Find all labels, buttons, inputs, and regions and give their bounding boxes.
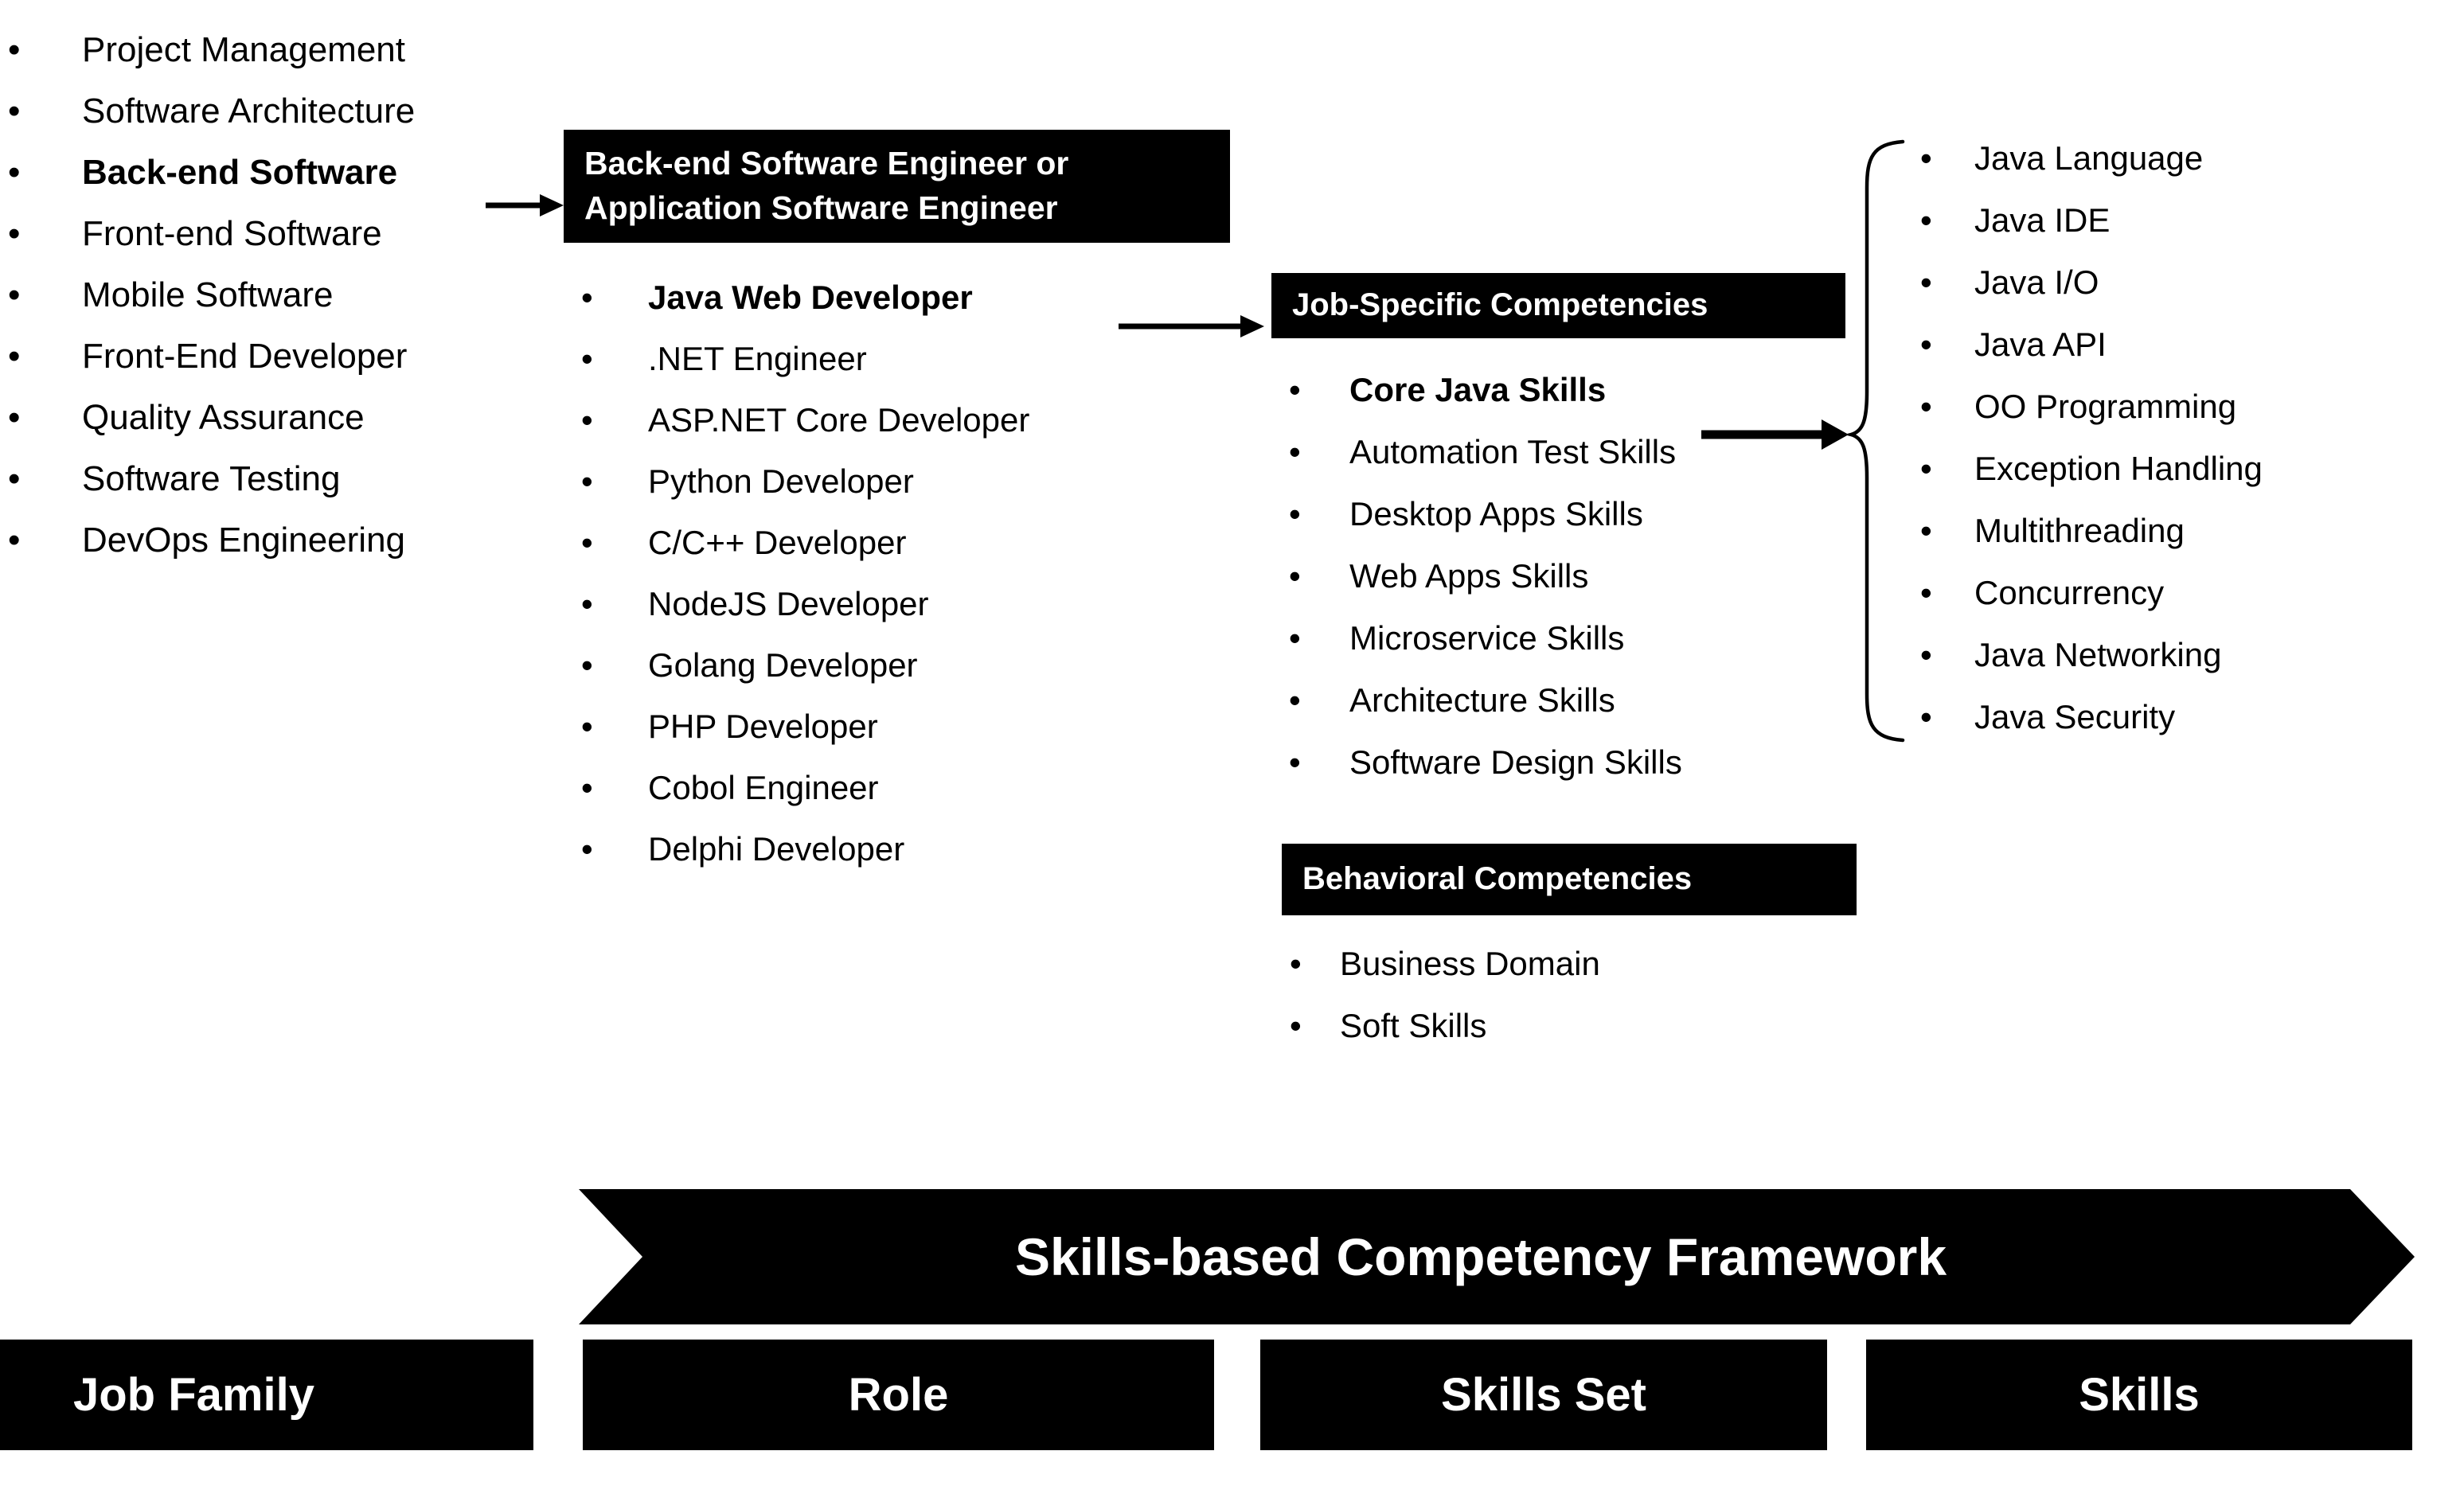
- job-specific-competency-label: Software Design Skills: [1349, 731, 1682, 794]
- job-family-label: Back-end Software: [82, 142, 397, 203]
- bullet-dot-icon: •: [581, 328, 593, 389]
- skills-list: •Java Language•Java IDE•Java I/O•Java AP…: [1911, 127, 2460, 748]
- job-family-label: Project Management: [82, 19, 405, 80]
- role-label: C/C++ Developer: [648, 512, 907, 573]
- role-header-line-1: Back-end Software Engineer or: [584, 141, 1209, 185]
- skill-item: •OO Programming: [1911, 376, 2460, 438]
- skill-label: Java I/O: [1974, 252, 2099, 314]
- footer-label-skills: Skills: [1866, 1340, 2412, 1450]
- behavioral-competency-label: Soft Skills: [1340, 995, 1486, 1057]
- role-label: NodeJS Developer: [648, 573, 929, 634]
- job-specific-competency-label: Automation Test Skills: [1349, 421, 1676, 483]
- role-label: Python Developer: [648, 450, 914, 512]
- job-family-label: Front-end Software: [82, 203, 382, 264]
- role-label: Golang Developer: [648, 634, 918, 696]
- job-specific-competencies-header-box: Job-Specific Competencies: [1271, 273, 1845, 338]
- role-label: Cobol Engineer: [648, 757, 879, 818]
- bullet-dot-icon: •: [8, 509, 20, 571]
- job-family-label: Front-End Developer: [82, 326, 407, 387]
- job-specific-competency-label: Architecture Skills: [1349, 669, 1615, 731]
- job-family-item: •Mobile Software: [0, 264, 557, 326]
- bullet-dot-icon: •: [581, 757, 593, 818]
- bullet-dot-icon: •: [1289, 545, 1301, 607]
- bullet-dot-icon: •: [8, 19, 20, 80]
- role-item: •Golang Developer: [570, 634, 1236, 696]
- banner-title: Skills-based Competency Framework: [579, 1189, 2415, 1324]
- skill-item: •Java Security: [1911, 686, 2460, 748]
- behavioral-competency-item: •Business Domain: [1282, 933, 1919, 995]
- behavioral-competency-item: •Soft Skills: [1282, 995, 1919, 1057]
- role-list: •Java Web Developer•.NET Engineer•ASP.NE…: [564, 267, 1236, 880]
- job-specific-competency-item: •Microservice Skills: [1281, 607, 1908, 669]
- skill-label: Java Security: [1974, 686, 2175, 748]
- job-family-item: •DevOps Engineering: [0, 509, 557, 571]
- behavioral-competency-label: Business Domain: [1340, 933, 1600, 995]
- behavioral-competencies-header-box: Behavioral Competencies: [1282, 844, 1857, 915]
- job-specific-competency-item: •Software Design Skills: [1281, 731, 1908, 794]
- bullet-dot-icon: •: [581, 389, 593, 450]
- role-item: •Delphi Developer: [570, 818, 1236, 880]
- skill-item: •Java API: [1911, 314, 2460, 376]
- role-item: •ASP.NET Core Developer: [570, 389, 1236, 450]
- role-item: •Python Developer: [570, 450, 1236, 512]
- skill-label: OO Programming: [1974, 376, 2236, 438]
- skill-label: Java Networking: [1974, 624, 2221, 686]
- job-family-item: •Software Testing: [0, 448, 557, 509]
- bullet-dot-icon: •: [1290, 933, 1302, 995]
- bullet-dot-icon: •: [581, 634, 593, 696]
- skill-label: Java Language: [1974, 127, 2203, 189]
- job-family-column: •Project Management•Software Architectur…: [0, 19, 557, 571]
- job-family-item: •Front-end Software: [0, 203, 557, 264]
- role-label: ASP.NET Core Developer: [648, 389, 1029, 450]
- skill-item: •Java Language: [1911, 127, 2460, 189]
- role-column: Back-end Software Engineer or Applicatio…: [564, 130, 1236, 880]
- role-header-line-2: Application Software Engineer: [584, 185, 1209, 230]
- role-item: •Java Web Developer: [570, 267, 1236, 328]
- bullet-dot-icon: •: [581, 573, 593, 634]
- bullet-dot-icon: •: [8, 448, 20, 509]
- job-family-item: •Quality Assurance: [0, 387, 557, 448]
- bullet-dot-icon: •: [1289, 421, 1301, 483]
- skill-item: •Concurrency: [1911, 562, 2460, 624]
- job-specific-competency-label: Core Java Skills: [1349, 359, 1606, 421]
- bullet-dot-icon: •: [1289, 731, 1301, 794]
- competency-framework-diagram: •Project Management•Software Architectur…: [0, 0, 2464, 1486]
- bullet-dot-icon: •: [581, 696, 593, 757]
- bullet-dot-icon: •: [1920, 376, 1932, 438]
- bullet-dot-icon: •: [8, 203, 20, 264]
- job-specific-competency-label: Microservice Skills: [1349, 607, 1624, 669]
- job-specific-competencies-list: •Core Java Skills•Automation Test Skills…: [1271, 359, 1908, 794]
- role-label: .NET Engineer: [648, 328, 867, 389]
- footer-label-job-family: Job Family: [0, 1340, 533, 1450]
- footer-label-role: Role: [583, 1340, 1214, 1450]
- bullet-dot-icon: •: [1920, 438, 1932, 500]
- bullet-dot-icon: •: [8, 326, 20, 387]
- skill-item: •Multithreading: [1911, 500, 2460, 562]
- skill-item: •Java IDE: [1911, 189, 2460, 252]
- bullet-dot-icon: •: [1920, 686, 1932, 748]
- role-label: PHP Developer: [648, 696, 878, 757]
- bullet-dot-icon: •: [1920, 189, 1932, 252]
- bullet-dot-icon: •: [581, 450, 593, 512]
- skills-column: •Java Language•Java IDE•Java I/O•Java AP…: [1911, 127, 2460, 748]
- job-specific-competency-item: •Automation Test Skills: [1281, 421, 1908, 483]
- role-item: •PHP Developer: [570, 696, 1236, 757]
- behavioral-competencies-group: Behavioral Competencies •Business Domain…: [1282, 844, 1919, 1057]
- job-specific-competency-label: Desktop Apps Skills: [1349, 483, 1643, 545]
- bullet-dot-icon: •: [1290, 995, 1302, 1057]
- footer-label-skills-set: Skills Set: [1260, 1340, 1827, 1450]
- job-specific-competency-item: •Architecture Skills: [1281, 669, 1908, 731]
- framework-banner: Skills-based Competency Framework: [579, 1189, 2415, 1324]
- bullet-dot-icon: •: [8, 142, 20, 203]
- skill-label: Java API: [1974, 314, 2107, 376]
- bullet-dot-icon: •: [581, 512, 593, 573]
- job-family-item: •Back-end Software: [0, 142, 557, 203]
- role-label: Delphi Developer: [648, 818, 904, 880]
- bullet-dot-icon: •: [1289, 359, 1301, 421]
- behavioral-competencies-list: •Business Domain•Soft Skills: [1282, 933, 1919, 1057]
- bullet-dot-icon: •: [1920, 314, 1932, 376]
- job-family-label: Software Testing: [82, 448, 340, 509]
- skill-label: Concurrency: [1974, 562, 2164, 624]
- job-family-item: •Software Architecture: [0, 80, 557, 142]
- skills-set-column: Job-Specific Competencies •Core Java Ski…: [1271, 273, 1908, 794]
- bullet-dot-icon: •: [1920, 252, 1932, 314]
- skill-label: Exception Handling: [1974, 438, 2263, 500]
- skill-item: •Java I/O: [1911, 252, 2460, 314]
- role-item: •.NET Engineer: [570, 328, 1236, 389]
- job-family-list: •Project Management•Software Architectur…: [0, 19, 557, 571]
- role-item: •NodeJS Developer: [570, 573, 1236, 634]
- bullet-dot-icon: •: [1289, 483, 1301, 545]
- bullet-dot-icon: •: [1920, 127, 1932, 189]
- skill-label: Multithreading: [1974, 500, 2185, 562]
- job-specific-competency-item: •Web Apps Skills: [1281, 545, 1908, 607]
- bullet-dot-icon: •: [8, 80, 20, 142]
- skill-item: •Exception Handling: [1911, 438, 2460, 500]
- role-item: •C/C++ Developer: [570, 512, 1236, 573]
- bullet-dot-icon: •: [8, 387, 20, 448]
- role-header-box: Back-end Software Engineer or Applicatio…: [564, 130, 1230, 243]
- bullet-dot-icon: •: [1920, 562, 1932, 624]
- job-family-label: DevOps Engineering: [82, 509, 405, 571]
- job-specific-competency-label: Web Apps Skills: [1349, 545, 1588, 607]
- bullet-dot-icon: •: [8, 264, 20, 326]
- bullet-dot-icon: •: [1920, 624, 1932, 686]
- job-family-item: •Project Management: [0, 19, 557, 80]
- job-specific-competency-item: •Core Java Skills: [1281, 359, 1908, 421]
- skill-item: •Java Networking: [1911, 624, 2460, 686]
- job-specific-competency-item: •Desktop Apps Skills: [1281, 483, 1908, 545]
- bullet-dot-icon: •: [1920, 500, 1932, 562]
- job-family-label: Mobile Software: [82, 264, 333, 326]
- job-family-label: Quality Assurance: [82, 387, 365, 448]
- bullet-dot-icon: •: [1289, 669, 1301, 731]
- job-family-label: Software Architecture: [82, 80, 415, 142]
- bullet-dot-icon: •: [1289, 607, 1301, 669]
- bullet-dot-icon: •: [581, 267, 593, 328]
- role-item: •Cobol Engineer: [570, 757, 1236, 818]
- job-family-item: •Front-End Developer: [0, 326, 557, 387]
- skill-label: Java IDE: [1974, 189, 2110, 252]
- bullet-dot-icon: •: [581, 818, 593, 880]
- role-label: Java Web Developer: [648, 267, 973, 328]
